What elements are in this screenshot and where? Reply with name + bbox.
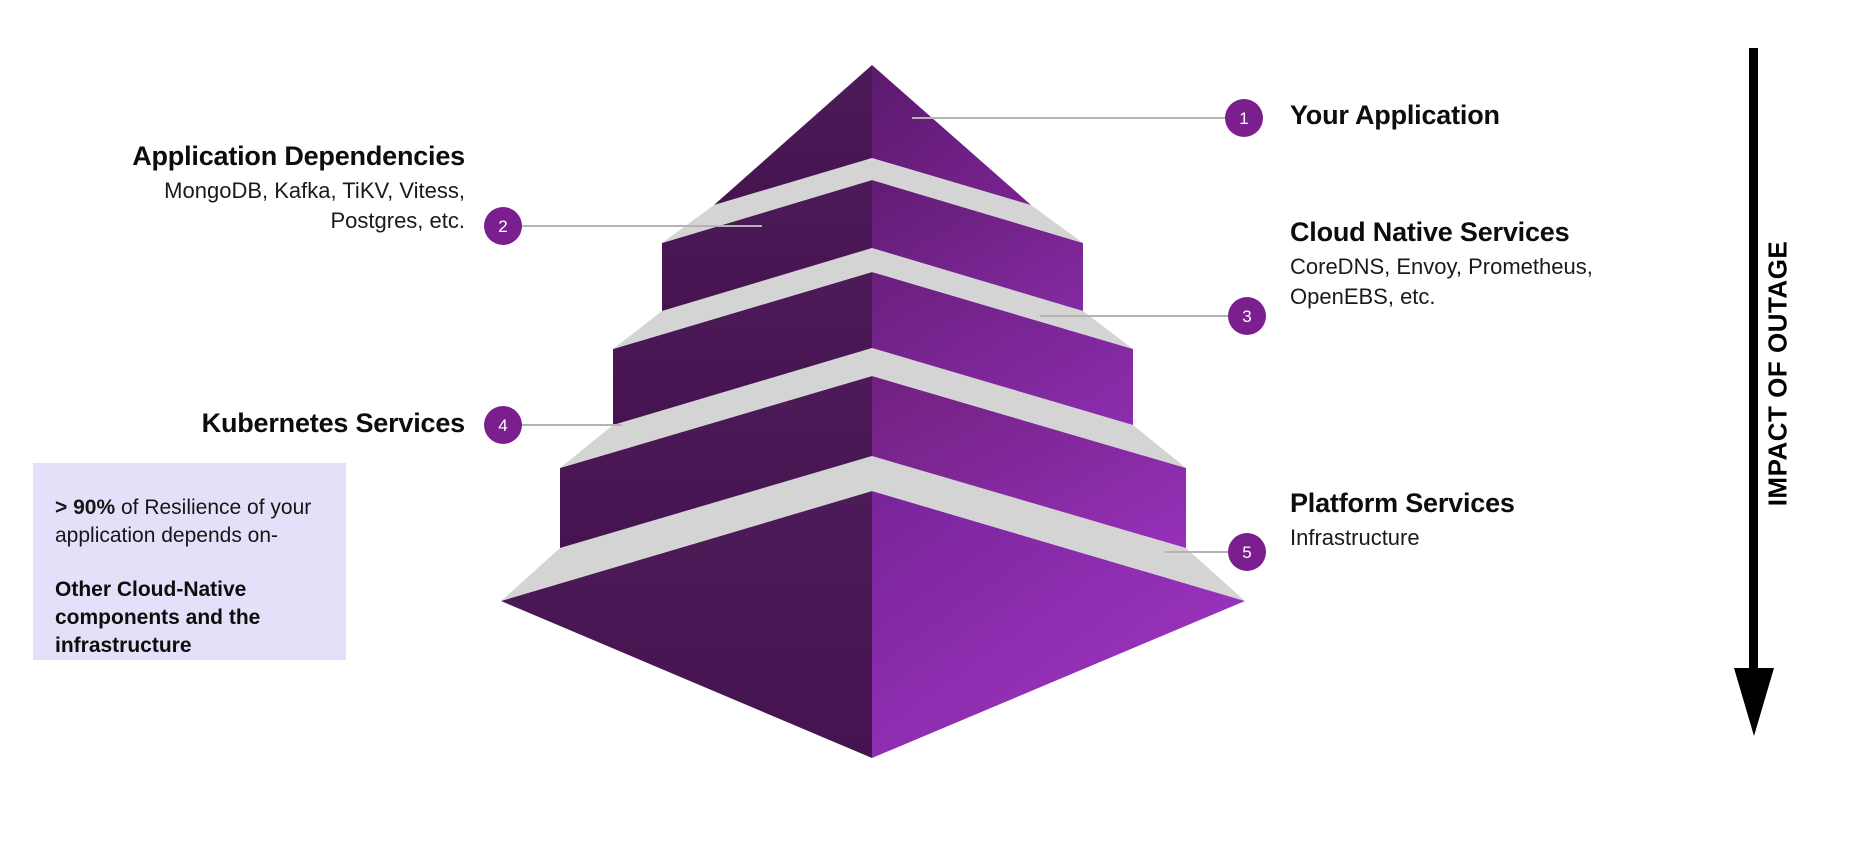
impact-of-outage-label: IMPACT OF OUTAGE [1763,224,1794,524]
marker-2[interactable]: 2 [484,207,522,245]
label-kubernetes-services-title: Kubernetes Services [0,408,465,440]
label-application-dependencies-title: Application Dependencies [0,141,465,173]
resilience-callout-box: > 90% of Resilience of your application … [33,463,346,660]
diagram-canvas: 1 2 3 4 5 Your Application Application D… [0,0,1858,846]
label-platform-services-subtitle: Infrastructure [1290,523,1515,553]
label-application-dependencies: Application Dependencies MongoDB, Kafka,… [0,141,465,236]
connector-line-2 [497,225,762,227]
resilience-strong-line-1: Other Cloud-Native [55,576,319,604]
marker-4[interactable]: 4 [484,406,522,444]
label-cloud-native-services-subtitle: CoreDNS, Envoy, Prometheus, OpenEBS, etc… [1290,252,1593,312]
marker-5[interactable]: 5 [1228,533,1266,571]
connector-line-1 [912,117,1230,119]
connector-line-5 [1165,551,1232,553]
resilience-strong: Other Cloud-Native components and the in… [55,576,319,660]
label-platform-services: Platform Services Infrastructure [1290,488,1515,553]
label-your-application-title: Your Application [1290,100,1500,132]
resilience-line-2: application depends on- [55,522,319,550]
resilience-percent: > 90% [55,496,115,519]
label-cloud-native-services: Cloud Native Services CoreDNS, Envoy, Pr… [1290,217,1593,312]
connector-line-3 [1040,315,1235,317]
label-your-application: Your Application [1290,100,1500,132]
label-application-dependencies-subtitle: MongoDB, Kafka, TiKV, Vitess, Postgres, … [0,176,465,236]
resilience-strong-line-2: components and the [55,604,319,632]
label-cloud-native-services-title: Cloud Native Services [1290,217,1593,249]
resilience-strong-line-3: infrastructure [55,632,319,660]
marker-3[interactable]: 3 [1228,297,1266,335]
label-platform-services-title: Platform Services [1290,488,1515,520]
resilience-line-1: > 90% of Resilience of your [55,494,319,522]
impact-of-outage-axis: IMPACT OF OUTAGE [1718,48,1838,758]
marker-1[interactable]: 1 [1225,99,1263,137]
label-kubernetes-services: Kubernetes Services [0,408,465,440]
resilience-line-1-rest: of Resilience of your [115,496,311,519]
